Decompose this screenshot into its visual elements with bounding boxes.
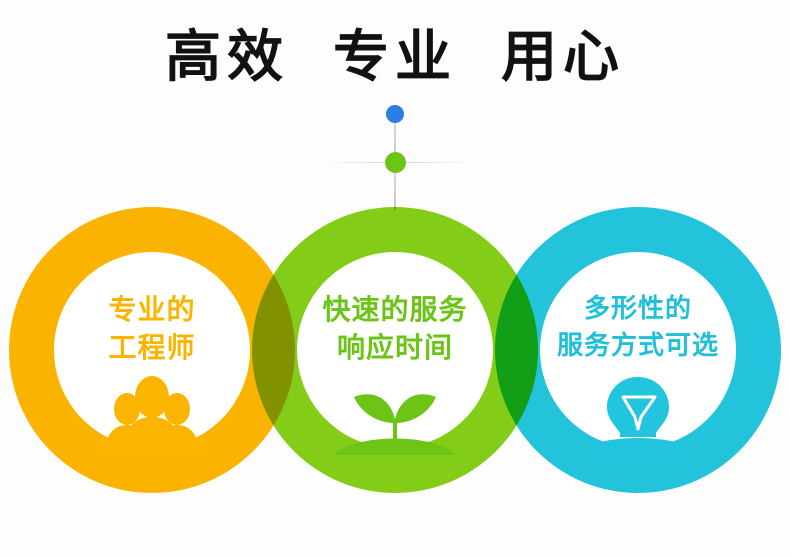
headline-word-2: 专业 — [333, 26, 457, 90]
page-title: 高效专业用心 — [0, 26, 790, 90]
feature-text-line-1: 专业的 — [108, 291, 195, 329]
connector-horizontal-line — [322, 162, 472, 163]
feature-card-engineers-text: 专业的 工程师 — [108, 291, 195, 367]
feature-text-line-2: 工程师 — [108, 329, 195, 367]
feature-text-line-1: 多形性的 — [557, 291, 719, 328]
feature-card-response-text: 快速的服务 响应时间 — [322, 291, 467, 367]
promo-poster: 高效专业用心 专业的 工程师 — [0, 0, 790, 557]
feature-text-line-2: 响应时间 — [322, 329, 467, 367]
connector-vertical-line-top — [394, 116, 396, 164]
feature-card-service-modes-text: 多形性的 服务方式可选 — [557, 291, 719, 365]
headline-word-1: 高效 — [165, 26, 289, 90]
feature-text-line-1: 快速的服务 — [322, 291, 467, 329]
headline-word-3: 用心 — [501, 26, 625, 90]
lightbulb-icon — [583, 373, 693, 453]
blue-dot-icon — [386, 105, 404, 123]
feature-text-line-2: 服务方式可选 — [557, 328, 719, 365]
people-icon — [97, 375, 207, 455]
green-dot-icon — [385, 152, 406, 173]
connector-vertical-line-bottom — [394, 166, 396, 210]
sprout-icon — [340, 375, 450, 455]
feature-card-service-modes[interactable]: 多形性的 服务方式可选 — [495, 207, 781, 493]
